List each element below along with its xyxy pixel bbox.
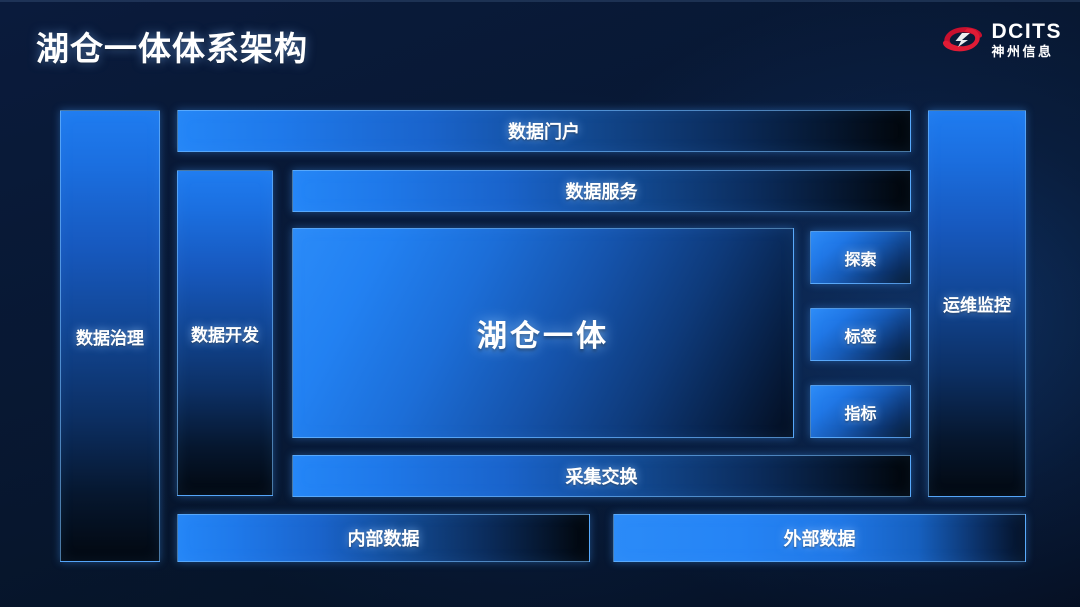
page-title: 湖仓一体体系架构: [36, 22, 308, 70]
slide-canvas: 湖仓一体体系架构 DCITS 神州信息 数据治理 数据门户 数据开发 数据服务 …: [0, 0, 1080, 607]
block-explore-label: 探索: [844, 246, 876, 270]
dcits-swirl-icon: [939, 22, 985, 56]
block-data-portal[interactable]: 数据门户: [177, 110, 911, 152]
block-data-service[interactable]: 数据服务: [292, 170, 911, 212]
block-internal-data[interactable]: 内部数据: [177, 514, 590, 562]
block-tag[interactable]: 标签: [810, 308, 911, 361]
block-data-portal-label: 数据门户: [508, 118, 580, 144]
block-data-governance-label: 数据治理: [76, 324, 144, 349]
block-data-development[interactable]: 数据开发: [177, 170, 273, 496]
block-lakehouse-core[interactable]: 湖仓一体: [292, 228, 794, 438]
block-ops-monitoring-label: 运维监控: [943, 291, 1011, 316]
logo-wordmark: DCITS 神州信息: [992, 21, 1063, 58]
block-explore[interactable]: 探索: [810, 231, 911, 284]
block-collect-exchange-label: 采集交换: [566, 463, 638, 489]
brand-logo: DCITS 神州信息: [939, 18, 1063, 60]
block-external-data-label: 外部数据: [784, 525, 856, 551]
logo-text-en: DCITS: [992, 21, 1063, 42]
block-data-development-label: 数据开发: [191, 321, 259, 346]
block-data-service-label: 数据服务: [566, 178, 638, 204]
block-data-governance[interactable]: 数据治理: [60, 110, 160, 562]
block-tag-label: 标签: [844, 323, 876, 347]
block-internal-data-label: 内部数据: [348, 525, 420, 551]
block-external-data[interactable]: 外部数据: [613, 514, 1026, 562]
logo-text-cn: 神州信息: [992, 45, 1063, 58]
block-metric-label: 指标: [844, 400, 876, 424]
block-collect-exchange[interactable]: 采集交换: [292, 455, 911, 497]
block-ops-monitoring[interactable]: 运维监控: [928, 110, 1026, 497]
block-metric[interactable]: 指标: [810, 385, 911, 438]
block-lakehouse-core-label: 湖仓一体: [477, 311, 609, 355]
